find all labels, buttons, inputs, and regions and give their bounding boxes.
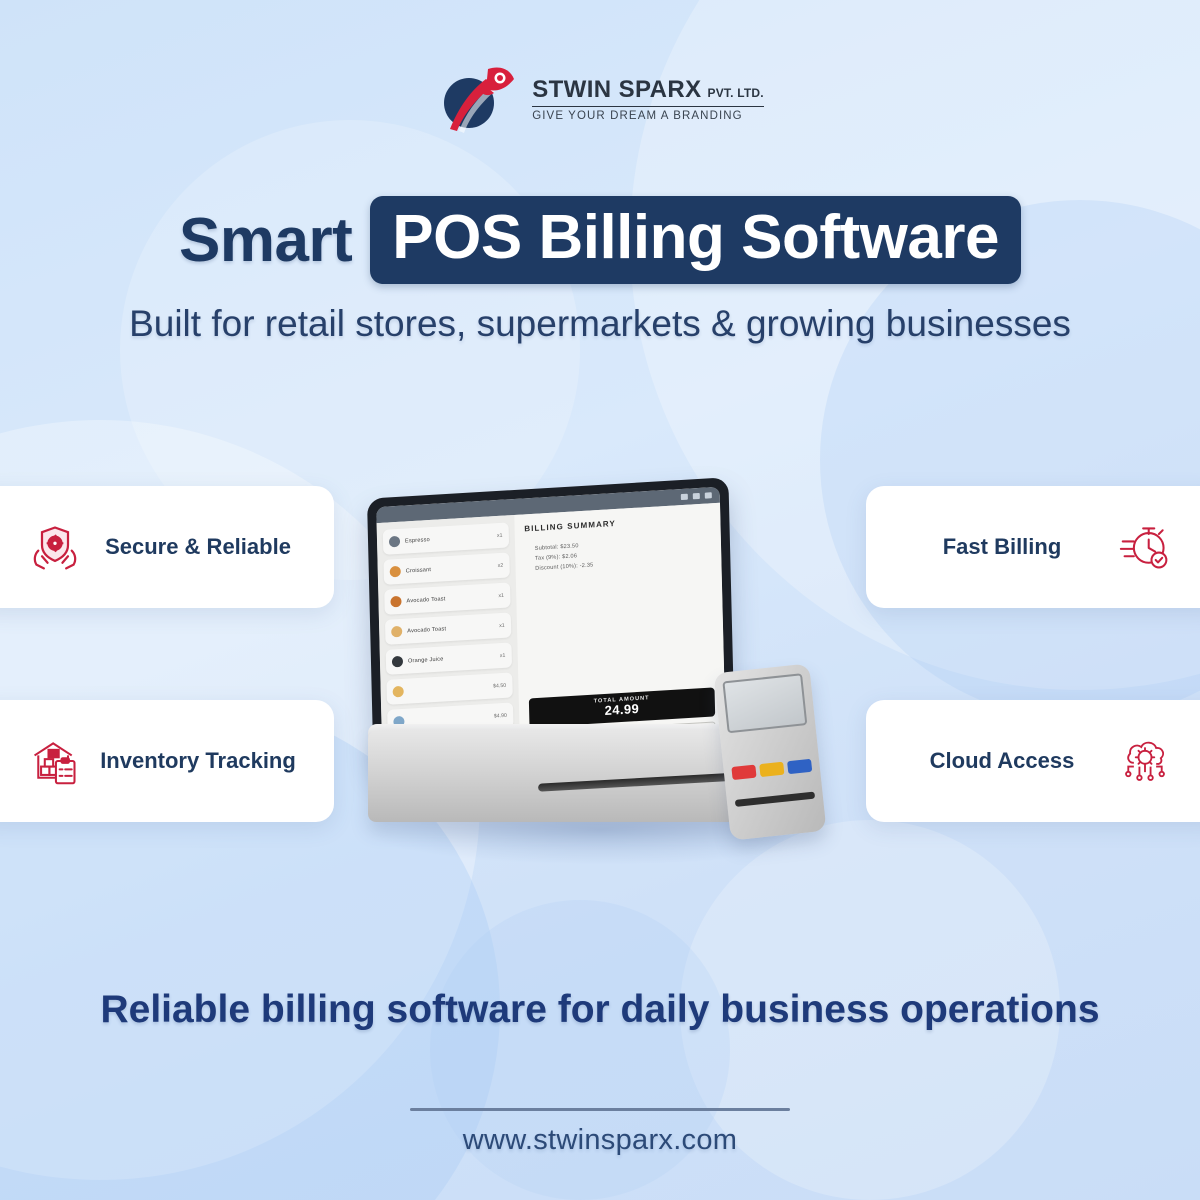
order-item-thumb-icon (390, 596, 401, 608)
headline-highlight: POS Billing Software (370, 196, 1021, 284)
card-payment-terminal (713, 663, 826, 840)
poster-canvas: STWIN SPARX PVT. LTD. GIVE YOUR DREAM A … (0, 0, 1200, 1200)
order-item-name (409, 716, 488, 721)
rocket-logo-icon (436, 59, 522, 139)
footer-divider (410, 1108, 790, 1111)
order-item-thumb-icon (390, 566, 401, 578)
order-item-row[interactable]: Avocado Toastx1 (385, 612, 511, 644)
order-item-name: Avocado Toast (407, 623, 494, 634)
shield-hands-icon (18, 521, 92, 573)
bottom-headline: Reliable billing software for daily busi… (100, 982, 1100, 1037)
cloud-gear-network-icon (1108, 735, 1182, 787)
total-amount-box: TOTAL AMOUNT 24.99 (528, 687, 715, 727)
order-item-thumb-icon (391, 626, 402, 638)
order-item-thumb-icon (392, 656, 403, 668)
warehouse-clipboard-icon (18, 735, 92, 787)
brand-logo: STWIN SPARX PVT. LTD. GIVE YOUR DREAM A … (0, 56, 1200, 142)
page-subtitle: Built for retail stores, supermarkets & … (120, 298, 1080, 349)
order-item-thumb-icon (389, 536, 400, 548)
summary-lines: Subtotal: $23.50Tax (9%): $2.06Discount … (525, 535, 712, 572)
status-icon-wifi (681, 494, 688, 500)
terminal-key-red (731, 765, 756, 780)
order-item-name: Croissant (406, 563, 493, 574)
website-url[interactable]: www.stwinsparx.com (0, 1124, 1200, 1157)
brand-name: STWIN SPARX (532, 76, 701, 104)
status-icon-signal (693, 493, 700, 499)
order-item-qty: x1 (500, 652, 506, 658)
headline-plain: Smart (179, 205, 370, 276)
terminal-key-blue (787, 759, 812, 774)
terminal-screen (722, 673, 807, 733)
terminal-keypad (731, 759, 812, 780)
brand-tagline: GIVE YOUR DREAM A BRANDING (532, 110, 764, 122)
order-item-name: Avocado Toast (406, 593, 493, 604)
feature-label: Cloud Access (880, 747, 1108, 775)
pos-device-illustration: Espressox1Croissantx2Avocado Toastx1Avoc… (340, 440, 880, 870)
stopwatch-check-icon (1108, 521, 1182, 573)
feature-card-secure-reliable[interactable]: Secure & Reliable (0, 486, 334, 608)
brand-suffix: PVT. LTD. (708, 86, 764, 100)
terminal-key-yellow (759, 762, 784, 777)
pos-screen: Espressox1Croissantx2Avocado Toastx1Avoc… (376, 487, 726, 761)
order-item-row[interactable]: $4.50 (386, 672, 512, 704)
order-item-qty: x1 (499, 622, 505, 628)
billing-summary-panel: BILLING SUMMARY Subtotal: $23.50Tax (9%)… (514, 503, 726, 753)
feature-label: Inventory Tracking (92, 747, 320, 775)
status-icon-battery (705, 492, 712, 498)
feature-label: Secure & Reliable (92, 533, 320, 561)
feature-card-cloud-access[interactable]: Cloud Access (866, 700, 1200, 822)
order-item-name: Espresso (405, 533, 492, 544)
logo-divider (532, 106, 764, 107)
summary-title: BILLING SUMMARY (524, 513, 710, 533)
order-item-row[interactable]: Orange Juicex1 (386, 642, 512, 674)
order-item-name (409, 686, 488, 691)
order-item-row[interactable]: Espressox1 (383, 522, 509, 554)
order-item-row[interactable]: Croissantx2 (383, 552, 509, 584)
feature-card-fast-billing[interactable]: Fast Billing (866, 486, 1200, 608)
terminal-card-slot (735, 792, 815, 807)
page-title: Smart POS Billing Software (0, 196, 1200, 284)
feature-label: Fast Billing (880, 533, 1108, 561)
feature-card-inventory-tracking[interactable]: Inventory Tracking (0, 700, 334, 822)
order-item-qty: $4.50 (493, 682, 506, 689)
order-item-qty: x1 (497, 532, 503, 538)
order-item-row[interactable]: Avocado Toastx1 (384, 582, 510, 614)
order-item-qty: x2 (498, 562, 504, 568)
order-item-thumb-icon (393, 686, 404, 698)
order-item-name: Orange Juice (408, 653, 495, 664)
order-item-qty: $4.90 (494, 712, 507, 719)
order-item-qty: x1 (498, 592, 504, 598)
